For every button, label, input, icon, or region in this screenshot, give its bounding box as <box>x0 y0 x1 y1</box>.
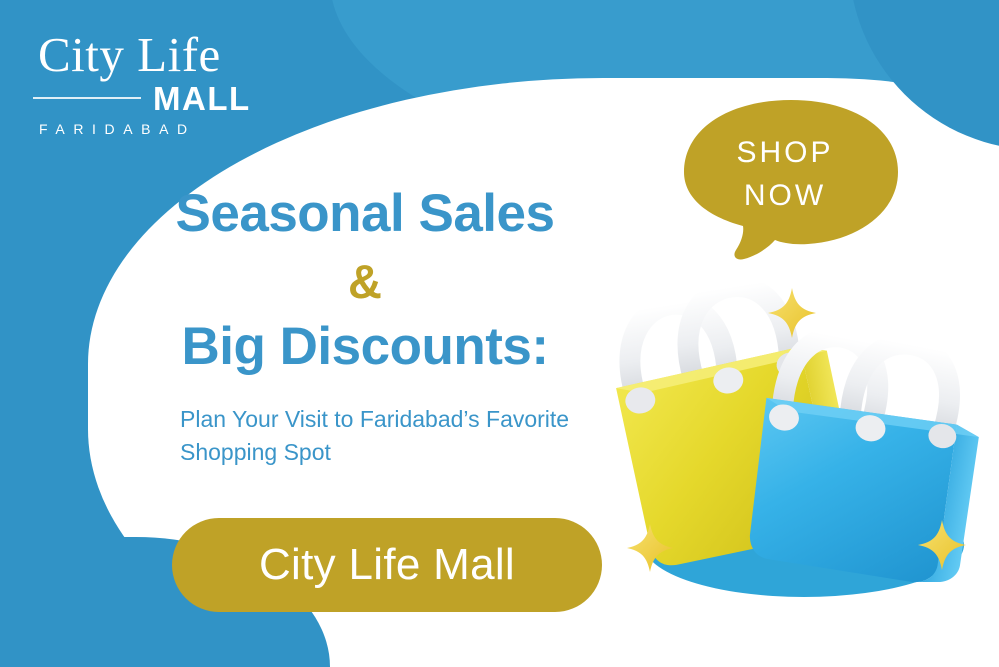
shop-now-badge[interactable]: SHOP NOW <box>676 96 906 271</box>
logo-mall-row: MALL <box>33 81 248 115</box>
headline-block: Seasonal Sales & Big Discounts: <box>0 186 730 374</box>
cta-button[interactable]: City Life Mall <box>172 518 602 612</box>
logo-mall-text: MALL <box>153 82 251 115</box>
speech-bubble-icon <box>676 96 906 271</box>
cta-button-label: City Life Mall <box>259 540 515 590</box>
headline-line-2: Big Discounts: <box>0 319 730 375</box>
headline-ampersand: & <box>0 258 730 305</box>
brand-logo: City Life MALL FARIDABAD <box>33 30 248 137</box>
promo-banner: City Life MALL FARIDABAD Seasonal Sales … <box>0 0 999 667</box>
logo-divider-rule <box>33 97 141 99</box>
headline-line-1: Seasonal Sales <box>0 186 730 242</box>
logo-location-text: FARIDABAD <box>39 121 248 137</box>
subtitle-text: Plan Your Visit to Faridabad’s Favorite … <box>180 403 610 468</box>
logo-script-text: City Life <box>38 30 248 79</box>
